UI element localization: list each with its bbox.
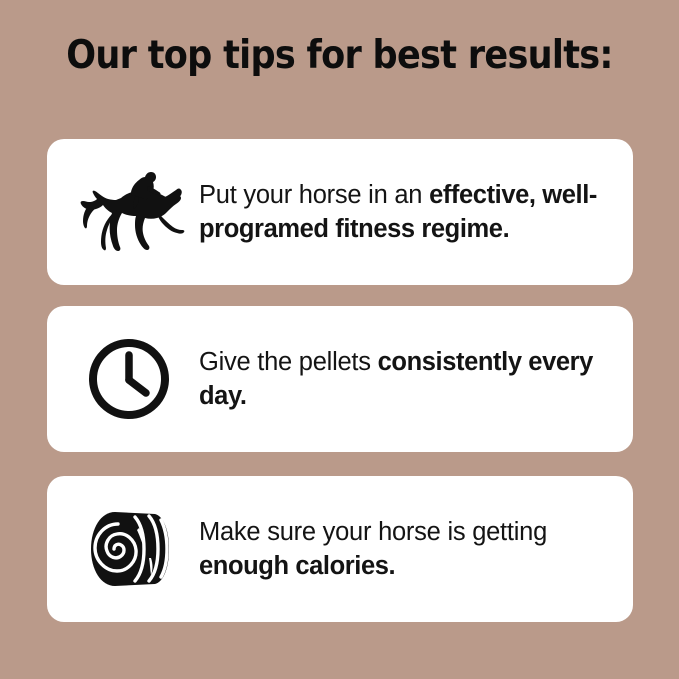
clock-icon (59, 306, 199, 452)
tip-card: Make sure your horse is getting enough c… (47, 476, 633, 622)
hay-bale-icon (59, 476, 199, 622)
tip-text-lead: Put your horse in an (199, 181, 429, 209)
tip-text: Make sure your horse is getting enough c… (199, 515, 633, 583)
tip-card: Give the pellets consistently every day. (47, 306, 633, 452)
tip-text: Put your horse in an effective, well-pro… (199, 178, 633, 246)
tip-text-lead: Give the pellets (199, 348, 378, 376)
tips-poster: Our top tips for best results: (0, 0, 679, 679)
tip-text-strong: enough calories. (199, 552, 395, 580)
page-title: Our top tips for best results: (34, 33, 645, 79)
tip-text-lead: Make sure your horse is getting (199, 518, 547, 546)
horse-rider-icon (59, 139, 199, 285)
tip-text: Give the pellets consistently every day. (199, 345, 633, 413)
tip-card: Put your horse in an effective, well-pro… (47, 139, 633, 285)
